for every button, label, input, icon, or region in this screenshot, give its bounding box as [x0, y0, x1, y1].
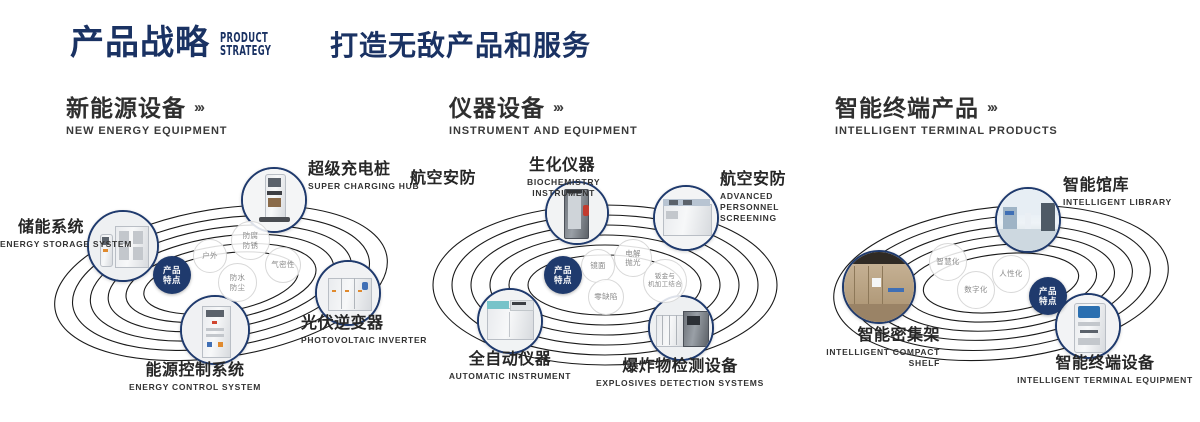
section-heading-cn: 智能终端产品 ››› — [835, 96, 1058, 120]
section-title-text: 新能源设备 — [66, 96, 186, 120]
badge-product-features: 产品 特点 — [153, 256, 191, 294]
section-heading-en: INTELLIGENT TERMINAL PRODUCTS — [835, 125, 1058, 137]
label-explosives-detection-systems: 爆炸物检测设备 EXPLOSIVES DETECTION SYSTEMS — [595, 358, 765, 389]
node-energy-control-system[interactable] — [180, 295, 250, 365]
chevron-triple-icon: ››› — [987, 100, 996, 116]
badge-product-features: 产品 特点 — [544, 256, 582, 294]
feature-bubble-sheetmetal-machining: 钣金与 机加工结合 — [643, 259, 687, 303]
label-super-charging-hub: 超级充电桩 SUPER CHARGING HUB — [308, 161, 419, 192]
label-energy-storage-system: 储能系统 ENERGY STORAGE SYSTEM — [0, 219, 84, 250]
feature-bubble-mirror: 镜面 — [581, 249, 615, 283]
node-advanced-personnel-screening[interactable] — [653, 185, 719, 251]
section-title-text: 仪器设备 — [449, 96, 545, 120]
section-title-text: 智能终端产品 — [835, 96, 979, 120]
section-heading-cn: 仪器设备 ››› — [449, 96, 638, 120]
page-title-en: PRODUCT STRATEGY — [220, 32, 271, 58]
page-title-en-line2: STRATEGY — [220, 45, 271, 58]
cluster-instrument: 航空安防 生化仪器 BIOCHEMISTRY INSTRUMENT — [405, 155, 815, 405]
section-heading-cn: 新能源设备 ››› — [66, 96, 227, 120]
label-advanced-personnel-screening: 航空安防 ADVANCED PERSONNEL SCREENING — [720, 171, 808, 223]
cluster-intelligent-terminal: 智能馆库 INTELLIGENT LIBRARY 智能密集架 INTELLIGE… — [805, 155, 1200, 405]
control-cabinet-photo — [182, 297, 248, 363]
compact-shelf-photo — [844, 252, 914, 322]
screening-machine-photo — [655, 187, 717, 249]
node-automatic-instrument[interactable] — [477, 288, 543, 354]
page-title: 产品战略 PRODUCT STRATEGY — [70, 26, 291, 60]
feature-bubble-airtight: 气密性 — [265, 247, 301, 283]
badge-product-features: 产品 特点 — [1029, 277, 1067, 315]
product-strategy-infographic: 产品战略 PRODUCT STRATEGY 打造无敌产品和服务 新能源设备 ››… — [0, 0, 1200, 422]
cluster-new-energy: 储能系统 ENERGY STORAGE SYSTEM 超级充电桩 SUPER C… — [25, 155, 425, 405]
label-biochemistry-instrument: 生化仪器 BIOCHEMISTRY INSTRUMENT — [475, 157, 595, 199]
label-intelligent-compact-shelf: 智能密集架 INTELLIGENT COMPACT SHELF — [795, 327, 940, 369]
feature-bubble-anticorrosion: 防腐 防锈 — [231, 221, 270, 260]
feature-bubble-intelligent: 智慧化 — [929, 243, 967, 281]
section-heading-en: NEW ENERGY EQUIPMENT — [66, 125, 227, 137]
label-energy-control-system: 能源控制系统 ENERGY CONTROL SYSTEM — [80, 362, 310, 393]
page-subtitle: 打造无敌产品和服务 — [330, 32, 591, 60]
node-intelligent-compact-shelf[interactable] — [842, 250, 916, 324]
automatic-instrument-photo — [479, 290, 541, 352]
label-automatic-instrument: 全自动仪器 AUTOMATIC INSTRUMENT — [425, 351, 595, 382]
node-intelligent-library[interactable] — [995, 187, 1061, 253]
feature-bubble-humanized: 人性化 — [992, 255, 1030, 293]
feature-bubble-digital: 数字化 — [957, 271, 995, 309]
feature-bubble-outdoor: 户外 — [193, 239, 227, 273]
section-heading-instrument: 仪器设备 ››› INSTRUMENT AND EQUIPMENT — [449, 96, 638, 137]
label-intelligent-terminal-equipment: 智能终端设备 INTELLIGENT TERMINAL EQUIPMENT — [1005, 355, 1200, 386]
feature-bubble-waterproof: 防水 防尘 — [218, 263, 257, 302]
smart-library-photo — [997, 189, 1059, 251]
feature-bubble-zero-defect: 零缺陷 — [588, 279, 624, 315]
page-title-cn: 产品战略 — [70, 26, 210, 60]
self-service-kiosk-photo — [1057, 295, 1119, 357]
label-intelligent-library: 智能馆库 INTELLIGENT LIBRARY — [1063, 177, 1172, 208]
node-explosives-detection-systems[interactable] — [648, 295, 714, 361]
section-heading-intelligent: 智能终端产品 ››› INTELLIGENT TERMINAL PRODUCTS — [835, 96, 1058, 137]
chevron-triple-icon: ››› — [194, 100, 203, 116]
section-heading-en: INSTRUMENT AND EQUIPMENT — [449, 125, 638, 137]
section-heading-new-energy: 新能源设备 ››› NEW ENERGY EQUIPMENT — [66, 96, 227, 137]
chevron-triple-icon: ››› — [553, 100, 562, 116]
label-aviation-security-left: 航空安防 — [410, 170, 476, 188]
explosives-detector-photo — [650, 297, 712, 359]
